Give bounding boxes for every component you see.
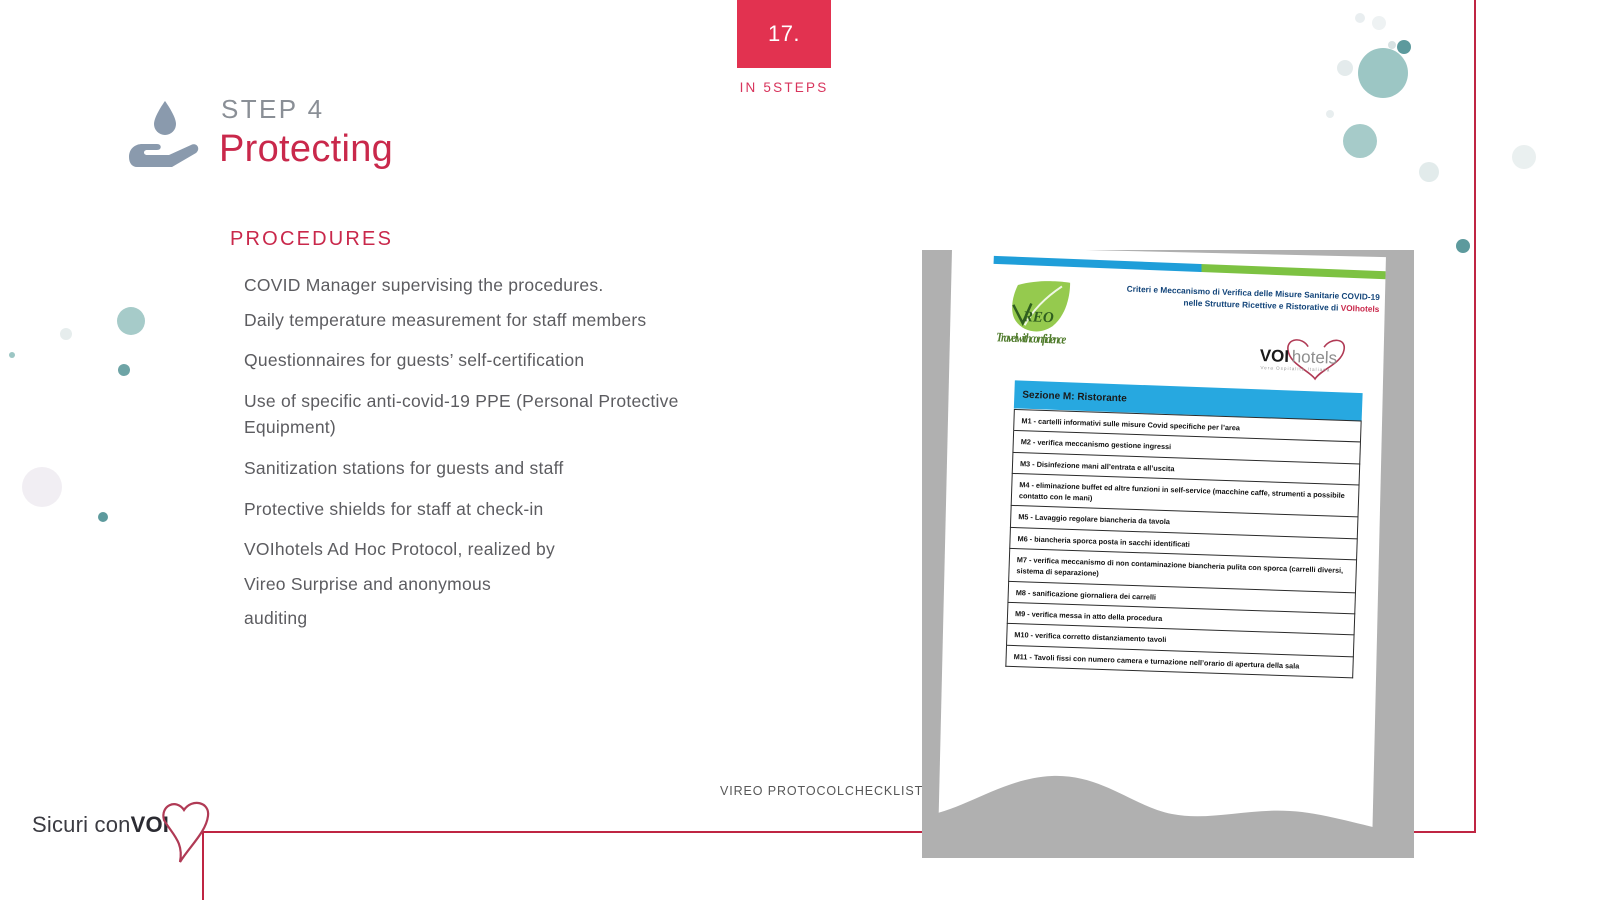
- slide-canvas: 17. IN 5STEPS STEP 4 Protecting PROCEDUR…: [0, 0, 1600, 900]
- footer-logo-text: Sicuri conVOI: [32, 812, 169, 837]
- procedures-list: COVID Manager supervising the procedures…: [244, 272, 724, 646]
- procedure-item: VOIhotels Ad Hoc Protocol, realized by: [244, 536, 724, 563]
- decorative-circle: [1355, 13, 1365, 23]
- document-bottom-hill-shape: [922, 762, 1414, 858]
- decorative-circle: [9, 352, 15, 358]
- vireo-tagline: Travelwithconfidence: [996, 329, 1065, 347]
- step-title: Protecting: [219, 128, 393, 171]
- document-preview: REO Travelwithconfidence Criteri e Mecca…: [922, 250, 1414, 856]
- procedure-item: Questionnaires for guests’ self-certific…: [244, 347, 724, 374]
- decorative-circle: [1343, 124, 1377, 158]
- document-title-line2-accent: VOIhotels: [1341, 303, 1380, 314]
- procedure-item: Sanitization stations for guests and sta…: [244, 455, 724, 482]
- procedure-item: Vireo Surprise and anonymous: [244, 571, 724, 598]
- slide-number-badge: 17.: [737, 0, 831, 68]
- decorative-circle: [22, 467, 62, 507]
- document-checklist-table: M1 - cartelli informativi sulle misure C…: [1005, 409, 1361, 678]
- decorative-circle: [118, 364, 130, 376]
- svg-text:VOI: VOI: [1259, 346, 1289, 366]
- decorative-circle: [60, 328, 72, 340]
- document-title: Criteri e Meccanismo di Verifica delle M…: [1091, 281, 1380, 315]
- procedure-item: Use of specific anti-covid-19 PPE (Perso…: [244, 388, 724, 441]
- procedure-item: Daily temperature measurement for staff …: [244, 307, 724, 334]
- svg-text:hotels: hotels: [1291, 347, 1337, 367]
- badge-subtitle: IN 5STEPS: [707, 80, 861, 95]
- svg-text:Vera Ospitalità Italiana: Vera Ospitalità Italiana: [1260, 365, 1330, 372]
- decorative-circle: [98, 512, 108, 522]
- decorative-circle: [1372, 16, 1386, 30]
- procedure-item: COVID Manager supervising the procedures…: [244, 272, 724, 299]
- decorative-circle: [117, 307, 145, 335]
- decorative-circle: [1326, 110, 1334, 118]
- heart-outline-icon: [150, 790, 228, 868]
- voihotels-logo: VOI hotels Vera Ospitalità Italiana: [1249, 335, 1354, 382]
- image-caption: VIREO PROTOCOLCHECKLIST: [720, 784, 923, 798]
- procedure-item: auditing: [244, 605, 724, 632]
- procedures-heading: PROCEDURES: [230, 228, 393, 251]
- slide-number-text: 17.: [768, 21, 800, 47]
- hand-with-droplet-icon: [125, 95, 205, 175]
- footer-logo-prefix: Sicuri con: [32, 812, 131, 837]
- footer-logo: Sicuri conVOI: [32, 812, 169, 838]
- procedure-item: Protective shields for staff at check-in: [244, 496, 724, 523]
- vireo-leaf-logo: REO: [1006, 275, 1080, 337]
- decorative-circle: [1512, 145, 1536, 169]
- decorative-circle: [1419, 162, 1439, 182]
- decorative-circle: [1358, 48, 1408, 98]
- step-label: STEP 4: [221, 94, 325, 125]
- frame-right-vertical-line: [1474, 0, 1476, 833]
- decorative-circle: [1388, 41, 1396, 49]
- decorative-circle: [1337, 60, 1353, 76]
- decorative-circle: [1456, 239, 1470, 253]
- decorative-circle: [1397, 40, 1411, 54]
